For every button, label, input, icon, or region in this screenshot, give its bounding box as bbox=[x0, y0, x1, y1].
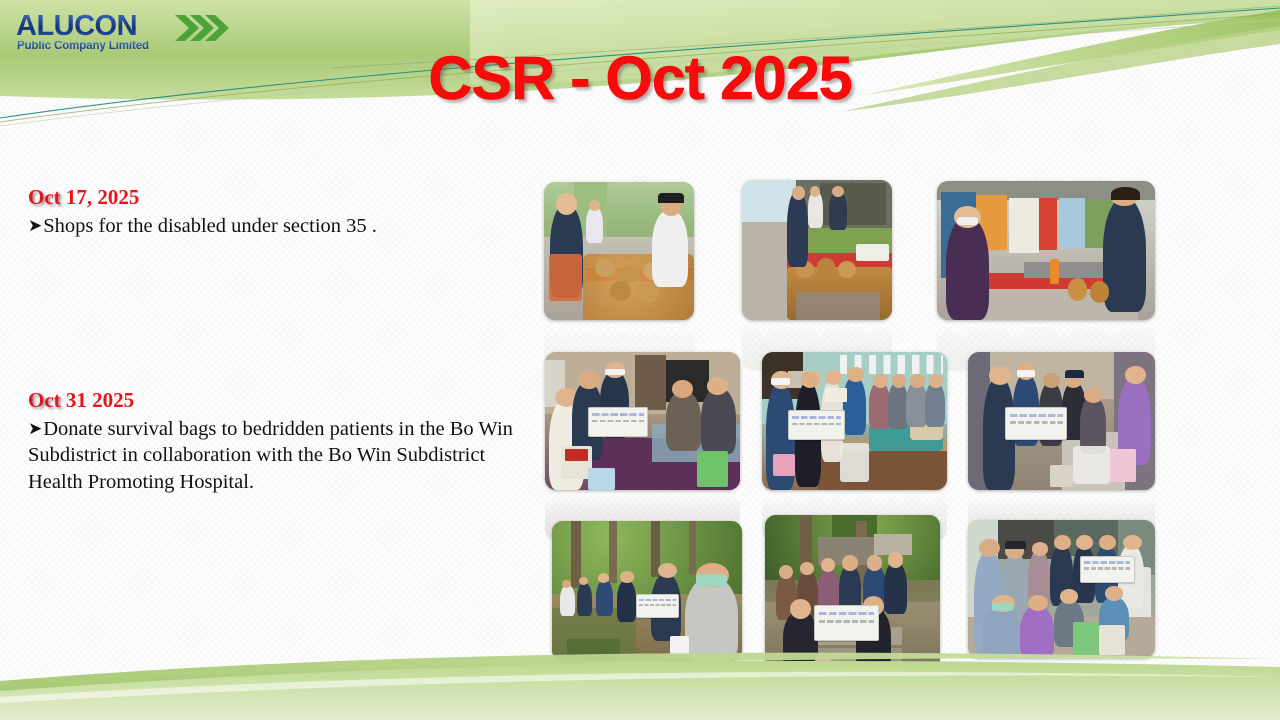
photo-item-7[interactable] bbox=[552, 521, 742, 661]
photo-item-5[interactable] bbox=[762, 352, 947, 490]
photo-8-reflection bbox=[765, 673, 940, 713]
photo-3[interactable] bbox=[937, 181, 1155, 320]
photo-gallery bbox=[0, 0, 1280, 720]
photo-item-2[interactable] bbox=[742, 180, 892, 320]
photo-item-6[interactable] bbox=[968, 352, 1155, 490]
photo-item-3[interactable] bbox=[937, 181, 1155, 320]
photo-9[interactable] bbox=[968, 520, 1155, 658]
photo-6[interactable] bbox=[968, 352, 1155, 490]
photo-1[interactable] bbox=[544, 182, 694, 320]
photo-item-4[interactable] bbox=[545, 352, 740, 490]
photo-item-9[interactable] bbox=[968, 520, 1155, 658]
photo-5[interactable] bbox=[762, 352, 947, 490]
slide-canvas: ALUCON Public Company Limited CSR - Oct … bbox=[0, 0, 1280, 720]
photo-item-1[interactable] bbox=[544, 182, 694, 320]
photo-7[interactable] bbox=[552, 521, 742, 661]
photo-8[interactable] bbox=[765, 515, 940, 670]
photo-9-reflection bbox=[968, 661, 1155, 709]
photo-7-reflection bbox=[552, 664, 742, 712]
photo-4[interactable] bbox=[545, 352, 740, 490]
photo-2[interactable] bbox=[742, 180, 892, 320]
photo-item-8[interactable] bbox=[765, 515, 940, 670]
